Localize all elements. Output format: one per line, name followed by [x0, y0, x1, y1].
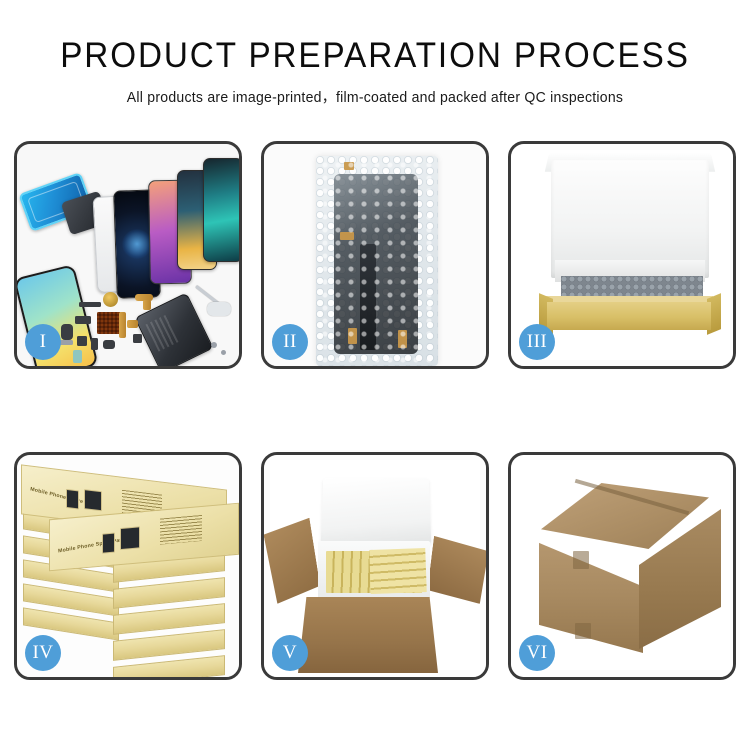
screw-cluster-part	[133, 334, 142, 343]
box-label-front: Mobile Phone Spare Parts	[58, 537, 127, 555]
flex-cable-part-4	[127, 320, 138, 328]
gloved-hand	[207, 302, 231, 316]
screw-part-2	[221, 350, 226, 355]
product-preparation-infographic: PRODUCT PREPARATION PROCESS All products…	[0, 0, 750, 750]
flex-cable-part-2	[143, 300, 151, 310]
process-step-grid: I Assorted phone screens, display assemb…	[14, 141, 736, 680]
carton-front-panel	[298, 597, 438, 673]
carton-tab-upper	[573, 551, 589, 569]
bracket-part-1	[59, 340, 73, 345]
camera-module-part	[61, 324, 73, 340]
process-step-panel-5: V Cardboard carton holding a white foam …	[261, 452, 489, 680]
process-step-panel-6: VI Sealed brown corrugated shipping cart…	[508, 452, 736, 680]
page-subtitle: All products are image-printed，film-coat…	[11, 86, 739, 107]
process-step-panel-3: III Open yellow kraft box lined with whi…	[508, 141, 736, 369]
phone-teal-display	[203, 158, 239, 262]
foam-box-lid	[321, 478, 432, 543]
flex-cable-part-3	[119, 312, 126, 338]
box-art-swatch-b1	[66, 489, 79, 510]
wrapped-flex-cable	[360, 244, 376, 350]
tape-piece-3	[348, 328, 357, 344]
box-front-panel	[547, 302, 711, 330]
step-badge-3: III	[519, 324, 555, 360]
step-badge-5: V	[272, 635, 308, 671]
process-step-panel-1: I Assorted phone screens, display assemb…	[14, 141, 242, 369]
box-art-swatch-f1	[102, 533, 115, 554]
box-art-swatch-f2	[120, 526, 140, 550]
earpiece-mesh-part	[79, 302, 101, 307]
header: PRODUCT PREPARATION PROCESS All products…	[0, 38, 750, 107]
speaker-part	[103, 292, 118, 307]
screw-part-1	[211, 342, 217, 348]
box-art-swatch-b2	[84, 489, 102, 511]
yellow-boxes-row-2	[369, 548, 427, 594]
process-step-panel-2: II Single screen assembly sealed in a cl…	[261, 141, 489, 369]
battery-connector-part	[73, 350, 82, 363]
vibrator-part	[103, 340, 115, 349]
step-badge-2: II	[272, 324, 308, 360]
connector-part-1	[75, 316, 91, 324]
bubble-wrap-bag	[316, 156, 438, 366]
tape-piece-2	[340, 232, 354, 240]
chip-part-1	[77, 336, 87, 346]
copper-shield-part	[97, 312, 121, 334]
carton-tab-lower	[575, 623, 591, 639]
tape-piece-4	[398, 330, 407, 348]
step-badge-6: VI	[519, 635, 555, 671]
step-badge-1: I	[25, 324, 61, 360]
box-spec-lines-front	[160, 515, 202, 545]
tape-piece-1	[344, 162, 354, 170]
step-badge-4: IV	[25, 635, 61, 671]
chip-part-2	[91, 338, 98, 350]
process-step-panel-4: Mobile Phone Spare Parts Mobile Phone Sp…	[14, 452, 242, 680]
wrapped-screen-assembly	[334, 174, 418, 354]
page-title: PRODUCT PREPARATION PROCESS	[19, 38, 732, 75]
